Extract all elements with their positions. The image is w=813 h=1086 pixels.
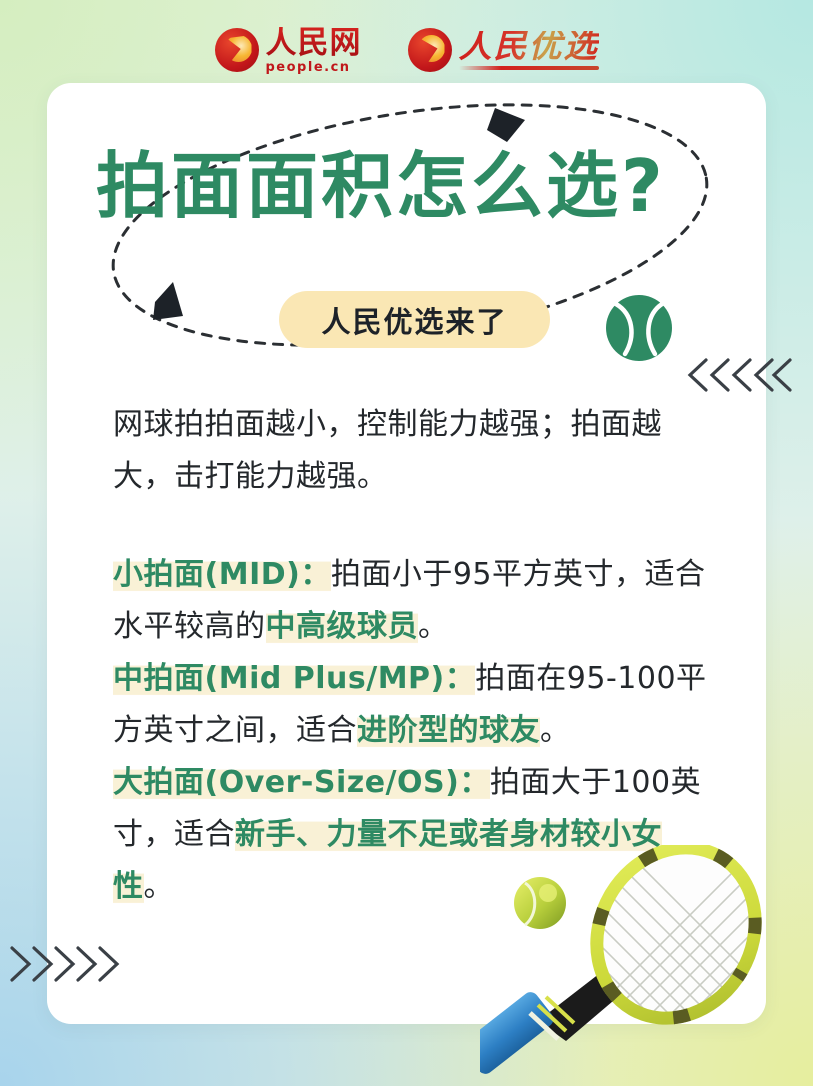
status-badge: 人民优选来了 xyxy=(279,291,550,348)
people-cn-logo-en: people.cn xyxy=(266,61,362,74)
list-item: 小拍面(MID)：拍面小于95平方英寸，适合水平较高的中高级球员。 xyxy=(113,549,713,653)
poster-canvas: 人民网 people.cn 人民优选 拍面面积怎么选? 人民优选来了 xyxy=(0,0,813,1086)
people-cn-logo-cn: 人民网 xyxy=(266,27,362,58)
item-highlight-mp: 进阶型的球友 xyxy=(357,713,540,748)
intro-paragraph: 网球拍拍面越小，控制能力越强；拍面越大，击打能力越强。 xyxy=(113,399,713,503)
header-logos: 人民网 people.cn 人民优选 xyxy=(0,22,813,78)
renmin-youxuan-logo: 人民优选 xyxy=(408,28,599,72)
item-text-mid-2: 。 xyxy=(418,609,449,644)
people-cn-logo-mark xyxy=(215,28,259,72)
item-label-mid: 小拍面(MID)： xyxy=(113,557,331,592)
chevron-left-group-icon xyxy=(682,352,792,398)
renmin-youxuan-logo-mark xyxy=(408,28,452,72)
renmin-youxuan-wordmark: 人民优选 xyxy=(459,31,599,70)
logo-swash-decoration xyxy=(459,66,599,70)
item-label-mp: 中拍面(Mid Plus/MP)： xyxy=(113,661,475,696)
list-item: 中拍面(Mid Plus/MP)：拍面在95-100平方英寸之间，适合进阶型的球… xyxy=(113,653,713,757)
item-text-mp-2: 。 xyxy=(540,713,571,748)
status-badge-label: 人民优选来了 xyxy=(321,299,507,341)
tennis-ball-illustration xyxy=(514,877,566,929)
renmin-youxuan-logo-cn: 人民优选 xyxy=(459,31,599,64)
item-highlight-mid: 中高级球员 xyxy=(266,609,419,644)
people-cn-wordmark: 人民网 people.cn xyxy=(266,27,362,74)
item-text-os-2: 。 xyxy=(144,869,175,904)
chevron-right-group-icon xyxy=(6,940,124,988)
people-cn-logo: 人民网 people.cn xyxy=(215,27,362,74)
tennis-racket-illustration xyxy=(480,845,810,1075)
item-label-os: 大拍面(Over-Size/OS)： xyxy=(113,765,490,800)
paragraph-spacer xyxy=(113,503,713,549)
page-title: 拍面面积怎么选? xyxy=(96,150,736,222)
body-text: 网球拍拍面越小，控制能力越强；拍面越大，击打能力越强。 小拍面(MID)：拍面小… xyxy=(113,399,713,913)
tennis-ball-icon xyxy=(603,292,675,364)
